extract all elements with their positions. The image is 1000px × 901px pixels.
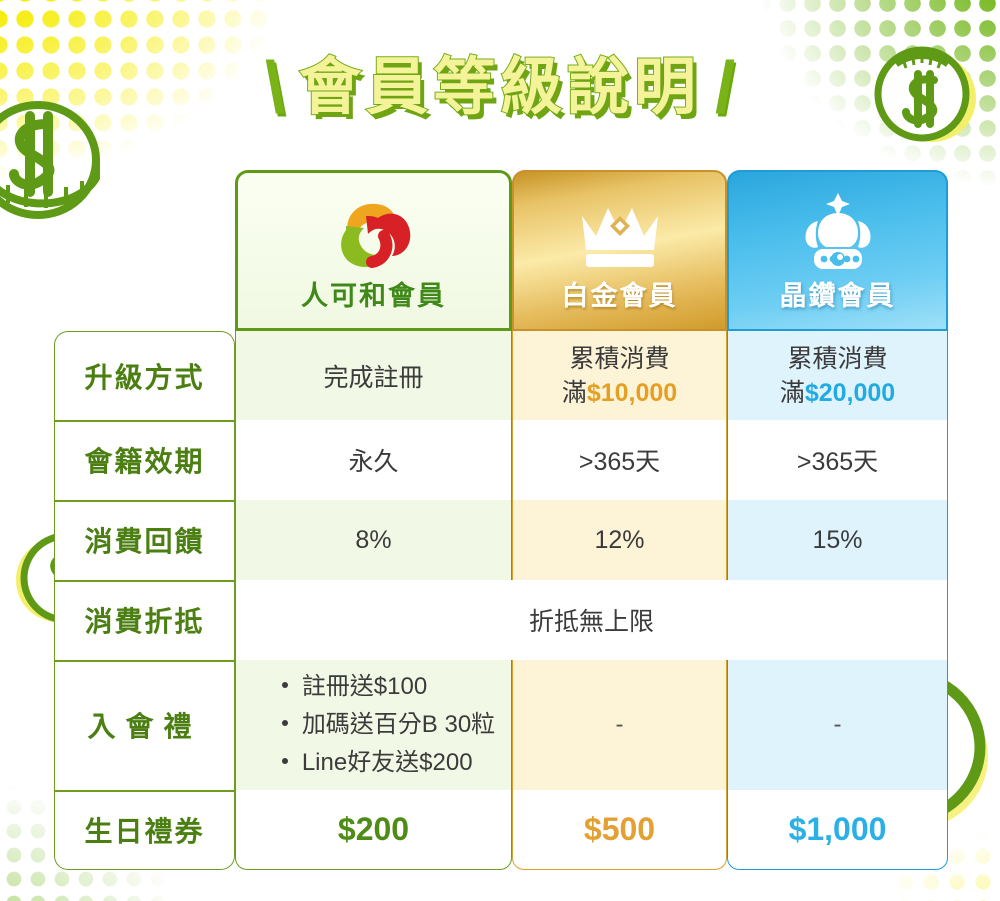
list-item: 註冊送$100 [278,668,495,706]
row-label-upgrade: 升級方式 [54,331,235,420]
row-label-welcome-gift: 入會禮 [54,660,235,790]
list-item: Line好友送$200 [278,744,495,782]
cell-upgrade-diamond-line2: 滿$20,000 [780,377,895,409]
cell-upgrade-platinum-amount: $10,000 [587,379,677,407]
title-slash-left: \ [265,52,285,124]
cell-birthday-basic: $200 [235,790,512,870]
cell-cashback-diamond: 15% [727,500,948,580]
cell-welcome-gift-platinum: - [512,660,727,790]
cell-upgrade-diamond-amount: $20,000 [805,379,895,407]
cell-upgrade-diamond-line1: 累積消費 [787,343,887,375]
title-slash-right: / [715,52,735,124]
page-title: 會員等級說明 [299,55,701,122]
column-header-diamond: 晶鑽會員 [727,170,948,331]
tier-comparison-table: 人可和會員 白金會員 [54,170,948,870]
cell-upgrade-diamond: 累積消費 滿$20,000 [727,331,948,420]
cell-discount-all: 折抵無上限 [235,580,948,660]
cell-birthday-platinum: $500 [512,790,727,870]
cell-cashback-basic: 8% [235,500,512,580]
cell-upgrade-basic: 完成註冊 [235,331,512,420]
row-label-cashback: 消費回饋 [54,500,235,580]
title-banner: \ 會員等級說明 / [0,38,1000,138]
column-header-basic-label: 人可和會員 [301,283,446,310]
cell-birthday-diamond: $1,000 [727,790,948,870]
cell-upgrade-diamond-prefix: 滿 [780,379,805,407]
royal-crown-icon [788,191,888,277]
cell-welcome-gift-basic: 註冊送$100 加碼送百分B 30粒 Line好友送$200 [235,660,512,790]
tri-swirl-logo-icon [332,191,416,277]
cell-validity-platinum: >365天 [512,420,727,500]
cell-upgrade-platinum-prefix: 滿 [562,379,587,407]
crown-icon [572,191,668,277]
column-header-diamond-label: 晶鑽會員 [780,283,896,310]
column-header-basic: 人可和會員 [235,170,512,331]
list-item: 加碼送百分B 30粒 [278,706,495,744]
row-label-birthday-coupon: 生日禮券 [54,790,235,870]
membership-tier-infographic: \ 會員等級說明 / 人可和會員 [0,0,1000,901]
cell-upgrade-platinum-line2: 滿$10,000 [562,377,677,409]
column-header-platinum-label: 白金會員 [562,283,678,310]
cell-upgrade-platinum: 累積消費 滿$10,000 [512,331,727,420]
cell-welcome-gift-diamond: - [727,660,948,790]
row-label-discount: 消費折抵 [54,580,235,660]
cell-validity-diamond: >365天 [727,420,948,500]
column-header-platinum: 白金會員 [512,170,727,331]
row-label-validity: 會籍效期 [54,420,235,500]
table-corner-empty [54,170,235,331]
cell-upgrade-platinum-line1: 累積消費 [569,343,669,375]
cell-validity-basic: 永久 [235,420,512,500]
cell-cashback-platinum: 12% [512,500,727,580]
welcome-gift-list: 註冊送$100 加碼送百分B 30粒 Line好友送$200 [252,668,495,782]
